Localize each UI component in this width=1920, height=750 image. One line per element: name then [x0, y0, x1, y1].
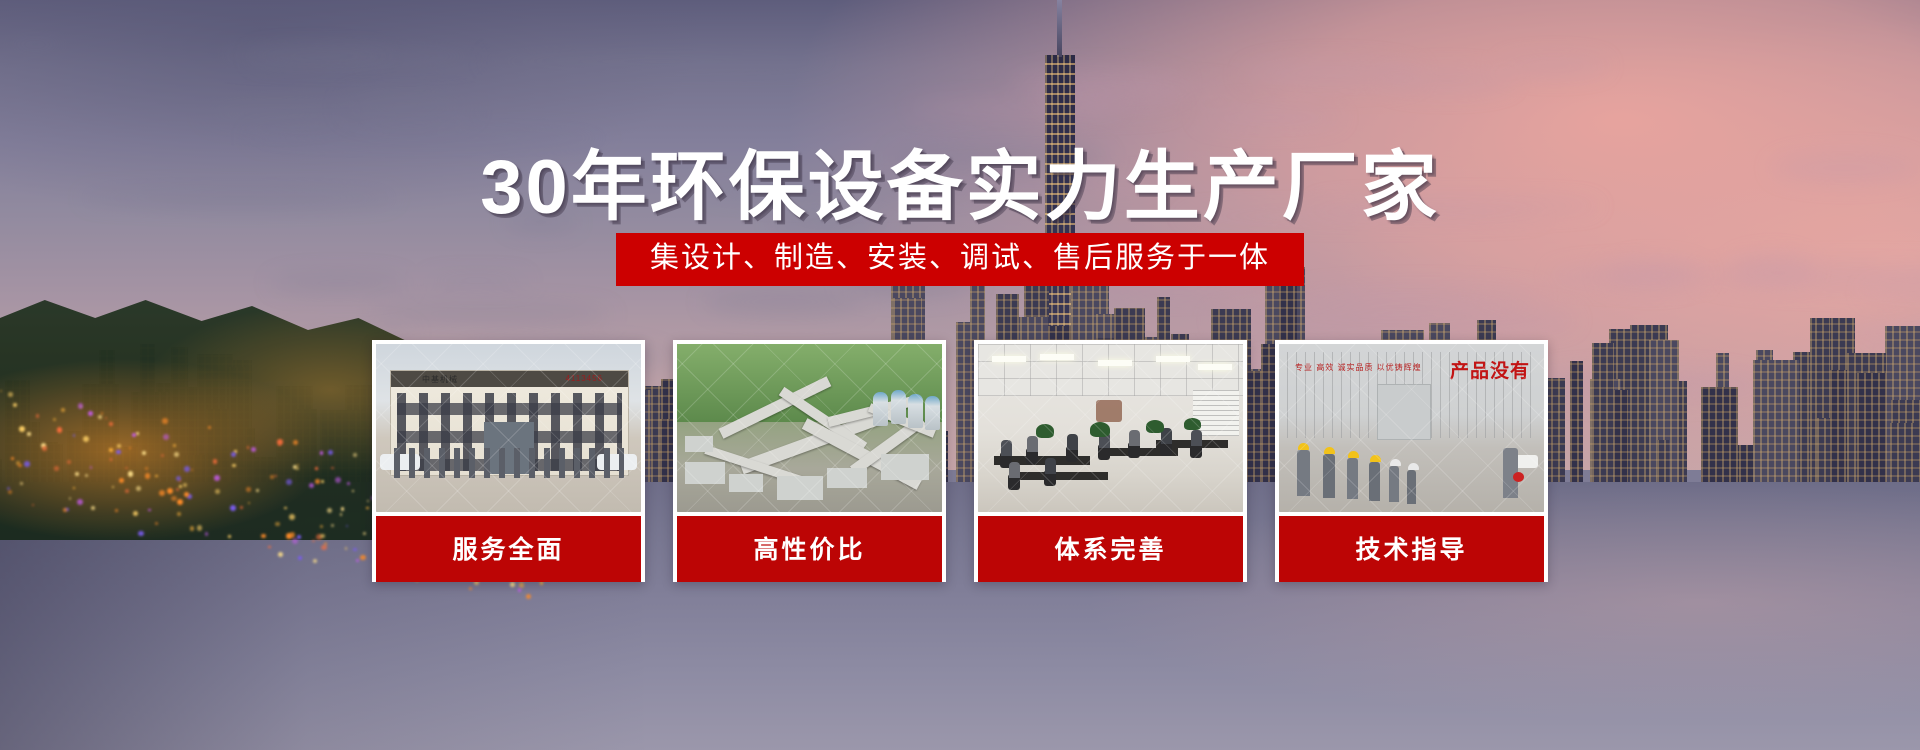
hero-title: 30年环保设备实力生产厂家 — [0, 125, 1920, 235]
feature-card-system[interactable]: 体系完善 — [974, 340, 1247, 582]
card-caption-system: 体系完善 — [978, 516, 1243, 582]
hero-banner: 30年环保设备实力生产厂家 集设计、制造、安装、调试、售后服务于一体 中基机械 … — [0, 0, 1920, 750]
feature-card-value[interactable]: 高性价比 — [673, 340, 946, 582]
hero-subtitle-wrap: 集设计、制造、安装、调试、售后服务于一体 — [0, 233, 1920, 286]
card-photo-office-building: 中基机械 4113456 — [376, 344, 641, 512]
feature-card-row: 中基机械 4113456 服务全面 高性价比 — [0, 340, 1920, 582]
card-photo-workshop: 产品没有 专业 高效 诚实品质 以优铸辉煌 — [1279, 344, 1544, 512]
hero-subtitle-banner: 集设计、制造、安装、调试、售后服务于一体 — [616, 233, 1304, 286]
building-phone-label: 4113456 — [565, 374, 603, 383]
card-caption-guidance: 技术指导 — [1279, 516, 1544, 582]
card-photo-aerial-plant — [677, 344, 942, 512]
workshop-sign-label: 产品没有 — [1450, 356, 1530, 383]
building-sign-label: 中基机械 — [422, 374, 458, 385]
workshop-slogan-label: 专业 高效 诚实品质 以优铸辉煌 — [1295, 362, 1422, 373]
card-caption-value: 高性价比 — [677, 516, 942, 582]
card-caption-service: 服务全面 — [376, 516, 641, 582]
feature-card-guidance[interactable]: 产品没有 专业 高效 诚实品质 以优铸辉煌 技术指导 — [1275, 340, 1548, 582]
card-photo-office-interior — [978, 344, 1243, 512]
feature-card-service[interactable]: 中基机械 4113456 服务全面 — [372, 340, 645, 582]
